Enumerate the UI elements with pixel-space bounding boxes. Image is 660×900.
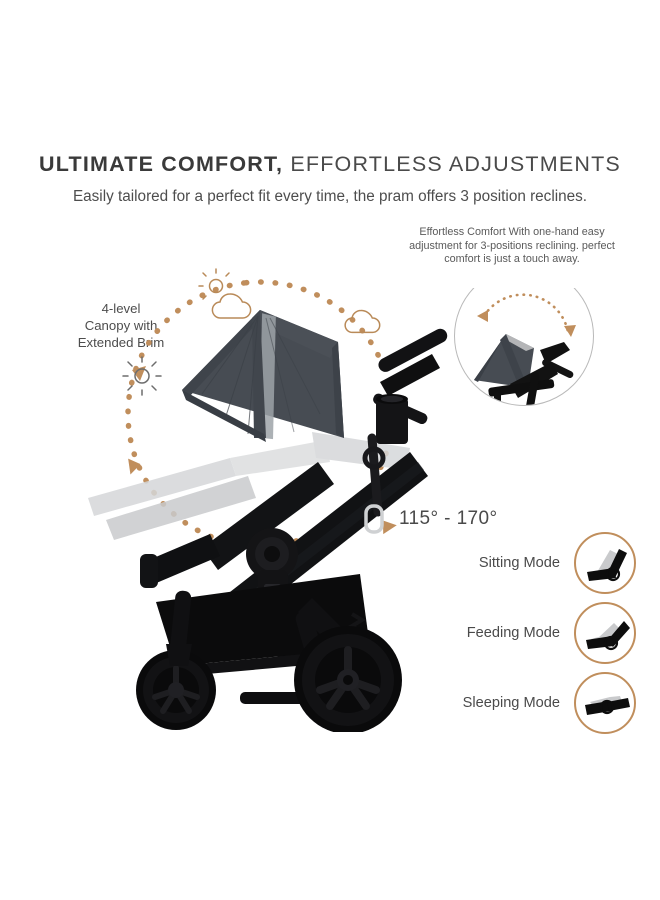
mode-row-feeding: Feeding Mode (396, 598, 636, 668)
recline-angle-range: 115° - 170° (399, 508, 497, 530)
title-light: EFFORTLESS ADJUSTMENTS (283, 152, 621, 176)
rear-wheel (294, 626, 402, 732)
recline-mode-list: Sitting Mode Feeding Mode (396, 528, 636, 738)
page-title: ULTIMATE COMFORT, EFFORTLESS ADJUSTMENTS (0, 152, 660, 177)
seat-recline-flat-icon (574, 672, 636, 734)
infographic-page: ULTIMATE COMFORT, EFFORTLESS ADJUSTMENTS… (0, 0, 660, 900)
seat-recline-upright-icon (574, 532, 636, 594)
page-subtitle: Easily tailored for a perfect fit every … (0, 188, 660, 206)
mode-label-sitting: Sitting Mode (479, 555, 560, 571)
seat-recline-mid-icon (574, 602, 636, 664)
mode-row-sitting: Sitting Mode (396, 528, 636, 598)
canopy (182, 310, 344, 442)
inset-caption: Effortless Comfort With one-hand easy ad… (404, 226, 620, 267)
mode-label-sleeping: Sleeping Mode (463, 695, 560, 711)
cup-holder (376, 394, 408, 444)
mode-row-sleeping: Sleeping Mode (396, 668, 636, 738)
title-strong: ULTIMATE COMFORT, (39, 152, 283, 176)
mode-label-feeding: Feeding Mode (467, 625, 560, 641)
